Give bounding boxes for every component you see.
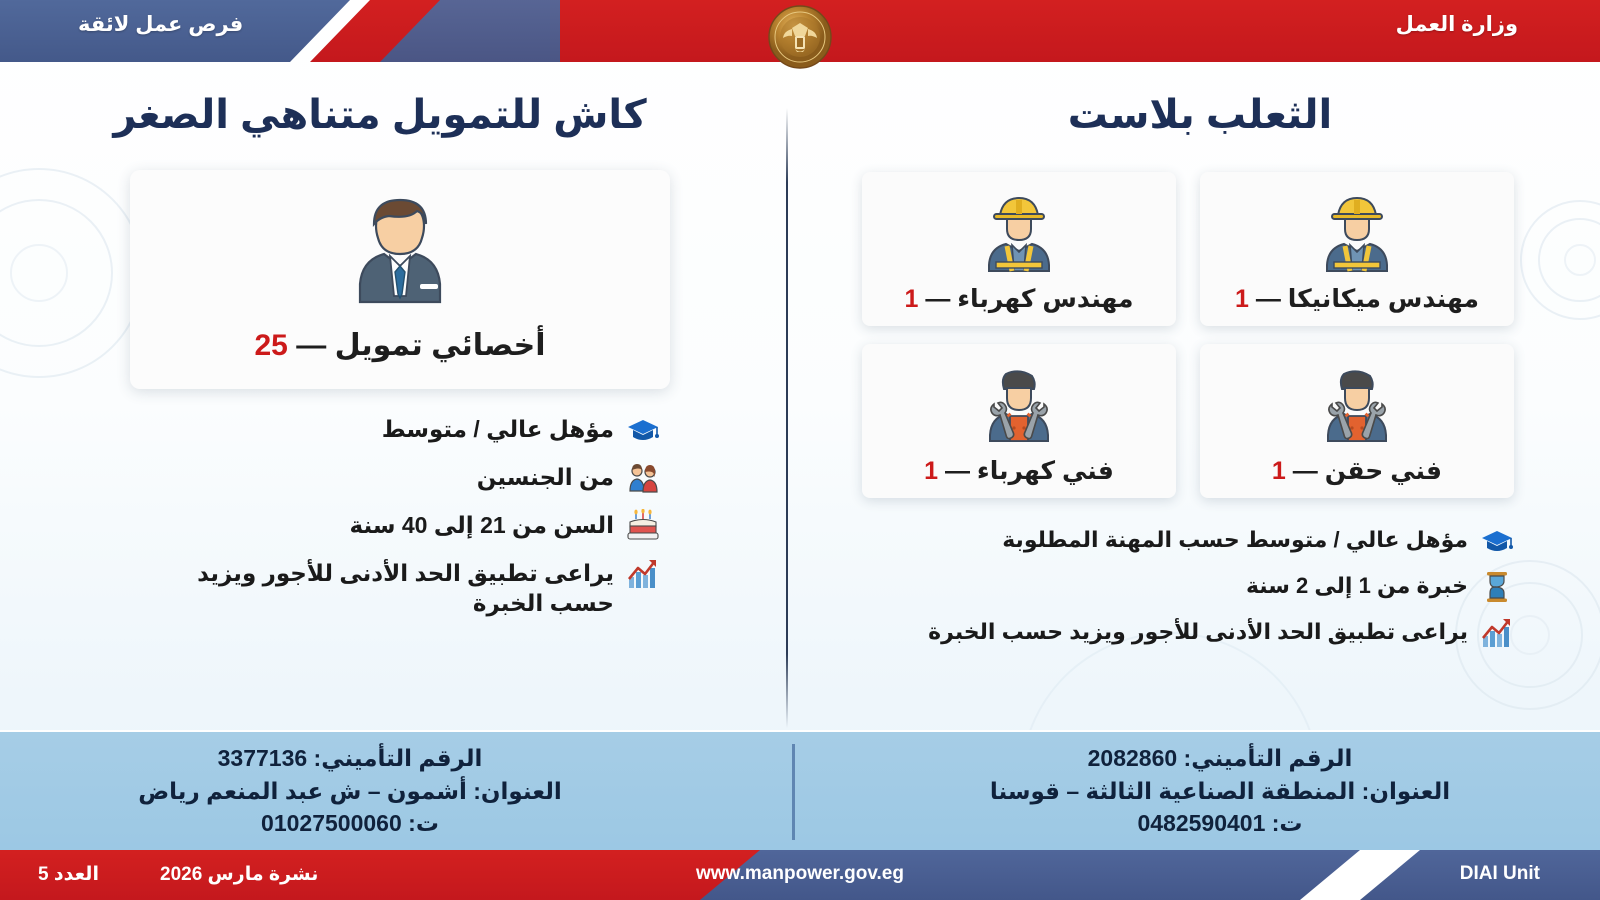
address: العنوان: أشمون – ش عبد المنعم رياض bbox=[30, 775, 670, 808]
job-title: مهندس ميكانيكا bbox=[1288, 285, 1479, 313]
unit-label: DIAI Unit bbox=[1460, 863, 1540, 885]
dash: — bbox=[1256, 285, 1281, 313]
job-title-line: أخصائي تمويل — 25 bbox=[148, 328, 652, 363]
job-title: فني حقن bbox=[1325, 457, 1442, 485]
avatar bbox=[872, 360, 1166, 452]
construction-worker-icon bbox=[976, 188, 1062, 280]
dash: — bbox=[945, 457, 970, 485]
list-item: يراعى تطبيق الحد الأدنى للأجور ويزيد حسب… bbox=[130, 557, 670, 619]
page-header: فرص عمل لائقة وزارة العمل bbox=[0, 0, 1600, 62]
graduation-cap-icon bbox=[626, 413, 660, 447]
list-item: من الجنسين bbox=[130, 461, 670, 495]
birthday-cake-icon bbox=[626, 509, 660, 543]
job-card[interactable]: فني حقن — 1 bbox=[1200, 344, 1514, 498]
job-title: أخصائي تمويل bbox=[335, 329, 546, 362]
job-count: 1 bbox=[904, 285, 918, 313]
left-column-title: كاش للتمويل متناهي الصغر bbox=[0, 92, 760, 138]
contact-bar: الرقم التأميني: 3377136 العنوان: أشمون –… bbox=[0, 730, 1600, 850]
right-company-panel: مهندس ميكانيكا — 1 bbox=[862, 172, 1514, 662]
job-card[interactable]: أخصائي تمويل — 25 bbox=[130, 170, 670, 389]
column-divider bbox=[786, 108, 788, 728]
insurance-number: الرقم التأميني: 3377136 bbox=[30, 742, 670, 775]
egypt-eagle-emblem-icon bbox=[767, 4, 833, 70]
bulletin-date: نشرة مارس 2026 bbox=[160, 863, 318, 886]
list-item-label: السن من 21 إلى 40 سنة bbox=[350, 509, 614, 541]
list-item-label: من الجنسين bbox=[477, 461, 614, 493]
graduation-cap-icon bbox=[1480, 524, 1514, 558]
list-item-label: يراعى تطبيق الحد الأدنى للأجور ويزيد حسب… bbox=[130, 557, 614, 619]
gear-watermark-icon bbox=[1520, 200, 1600, 320]
job-card[interactable]: مهندس كهرباء — 1 bbox=[862, 172, 1176, 326]
mechanic-wrench-icon bbox=[976, 360, 1062, 452]
list-item: مؤهل عالي / متوسط حسب المهنة المطلوبة bbox=[862, 524, 1514, 558]
job-count: 25 bbox=[255, 329, 288, 362]
job-count: 1 bbox=[924, 457, 938, 485]
left-requirements-list: مؤهل عالي / متوسط من الجنسين bbox=[130, 413, 670, 619]
job-title: مهندس كهرباء bbox=[957, 285, 1133, 313]
job-card[interactable]: مهندس ميكانيكا — 1 bbox=[1200, 172, 1514, 326]
dash: — bbox=[1293, 457, 1318, 485]
header-right-label: وزارة العمل bbox=[1396, 12, 1518, 37]
list-item: مؤهل عالي / متوسط bbox=[130, 413, 670, 447]
left-company-panel: أخصائي تمويل — 25 مؤهل عالي / متوسط bbox=[130, 170, 670, 633]
list-item: خبرة من 1 إلى 2 سنة bbox=[862, 570, 1514, 604]
job-title-line: فني كهرباء — 1 bbox=[872, 456, 1166, 486]
left-contact-block: الرقم التأميني: 3377136 العنوان: أشمون –… bbox=[30, 742, 670, 840]
poster-page: فرص عمل لائقة وزارة العمل كاش للتمويل مت… bbox=[0, 0, 1600, 900]
dash: — bbox=[925, 285, 950, 313]
job-count: 1 bbox=[1272, 457, 1286, 485]
two-people-icon bbox=[626, 461, 660, 495]
contact-divider bbox=[792, 744, 795, 840]
phone: ت: 01027500060 bbox=[30, 807, 670, 840]
avatar bbox=[1210, 360, 1504, 452]
job-title-line: مهندس ميكانيكا — 1 bbox=[1210, 284, 1504, 314]
avatar bbox=[148, 192, 652, 322]
construction-worker-icon bbox=[1314, 188, 1400, 280]
header-left-label: فرص عمل لائقة bbox=[78, 12, 243, 37]
right-contact-block: الرقم التأميني: 2082860 العنوان: المنطقة… bbox=[900, 742, 1540, 840]
job-count: 1 bbox=[1235, 285, 1249, 313]
right-column-title: الثعلب بلاست bbox=[800, 92, 1600, 138]
phone: ت: 0482590401 bbox=[900, 807, 1540, 840]
businessman-avatar-icon bbox=[344, 192, 456, 322]
list-item: يراعى تطبيق الحد الأدنى للأجور ويزيد حسب… bbox=[862, 616, 1514, 650]
list-item-label: خبرة من 1 إلى 2 سنة bbox=[1246, 570, 1468, 601]
growth-chart-icon bbox=[626, 557, 660, 591]
job-card[interactable]: فني كهرباء — 1 bbox=[862, 344, 1176, 498]
job-title-line: فني حقن — 1 bbox=[1210, 456, 1504, 486]
insurance-number: الرقم التأميني: 2082860 bbox=[900, 742, 1540, 775]
avatar bbox=[872, 188, 1166, 280]
page-footer: www.manpower.gov.eg العدد 5 نشرة مارس 20… bbox=[0, 850, 1600, 900]
growth-chart-icon bbox=[1480, 616, 1514, 650]
avatar bbox=[1210, 188, 1504, 280]
mechanic-wrench-icon bbox=[1314, 360, 1400, 452]
list-item: السن من 21 إلى 40 سنة bbox=[130, 509, 670, 543]
job-card-grid: مهندس ميكانيكا — 1 bbox=[862, 172, 1514, 498]
right-requirements-list: مؤهل عالي / متوسط حسب المهنة المطلوبة خب… bbox=[862, 524, 1514, 650]
list-item-label: مؤهل عالي / متوسط حسب المهنة المطلوبة bbox=[1002, 524, 1468, 555]
address: العنوان: المنطقة الصناعية الثالثة – قوسن… bbox=[900, 775, 1540, 808]
job-title-line: مهندس كهرباء — 1 bbox=[872, 284, 1166, 314]
hourglass-icon bbox=[1480, 570, 1514, 604]
list-item-label: يراعى تطبيق الحد الأدنى للأجور ويزيد حسب… bbox=[928, 616, 1468, 647]
dash: — bbox=[296, 329, 326, 362]
issue-number: العدد 5 bbox=[38, 863, 99, 886]
list-item-label: مؤهل عالي / متوسط bbox=[382, 413, 614, 445]
job-title: فني كهرباء bbox=[977, 457, 1114, 485]
gear-watermark-icon bbox=[0, 168, 144, 378]
